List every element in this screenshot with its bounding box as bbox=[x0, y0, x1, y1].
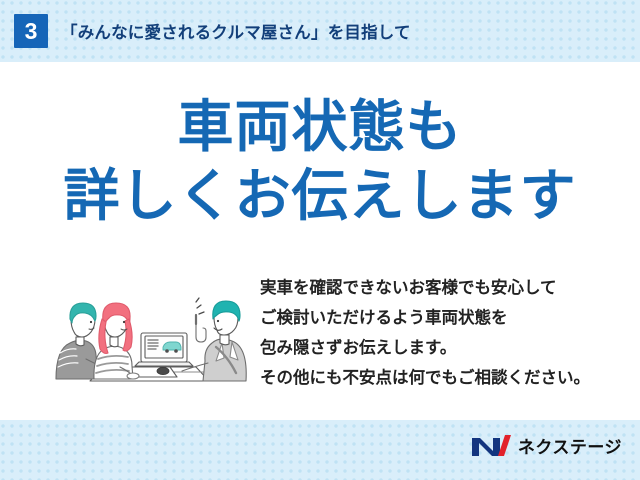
body-copy-line-4: その他にも不安点は何でもご相談ください。 bbox=[260, 363, 590, 393]
body-copy-line-3: 包み隠さずお伝えします。 bbox=[260, 333, 590, 363]
brand-logo: ネクステージ bbox=[470, 432, 622, 459]
headline-line-2: 詳しくお伝えします bbox=[0, 165, 640, 228]
header-title: 「みんなに愛されるクルマ屋さん」を目指して bbox=[61, 19, 411, 43]
content-panel: 車両状態も 詳しくお伝えします bbox=[0, 62, 640, 420]
nextage-n-mark-icon bbox=[470, 432, 512, 459]
headline-line-1: 車両状態も bbox=[0, 96, 640, 159]
footer: ネクステージ bbox=[0, 420, 640, 480]
body-copy-line-2: ご検討いただけるよう車両状態を bbox=[260, 303, 590, 333]
headline: 車両状態も 詳しくお伝えします bbox=[0, 96, 640, 227]
body-copy: 実車を確認できないお客様でも安心して ご検討いただけるよう車両状態を 包み隠さず… bbox=[260, 273, 590, 393]
consultation-illustration-svg bbox=[46, 267, 256, 397]
body-copy-line-1: 実車を確認できないお客様でも安心して bbox=[260, 273, 590, 303]
brand-logo-text: ネクステージ bbox=[518, 433, 622, 458]
consultation-illustration bbox=[46, 267, 256, 397]
slide-root: 3 「みんなに愛されるクルマ屋さん」を目指して 車両状態も 詳しくお伝えします bbox=[0, 0, 640, 480]
lower-section: 実車を確認できないお客様でも安心して ご検討いただけるよう車両状態を 包み隠さず… bbox=[0, 267, 640, 417]
step-number-badge: 3 bbox=[14, 14, 48, 48]
header: 3 「みんなに愛されるクルマ屋さん」を目指して bbox=[0, 0, 640, 62]
